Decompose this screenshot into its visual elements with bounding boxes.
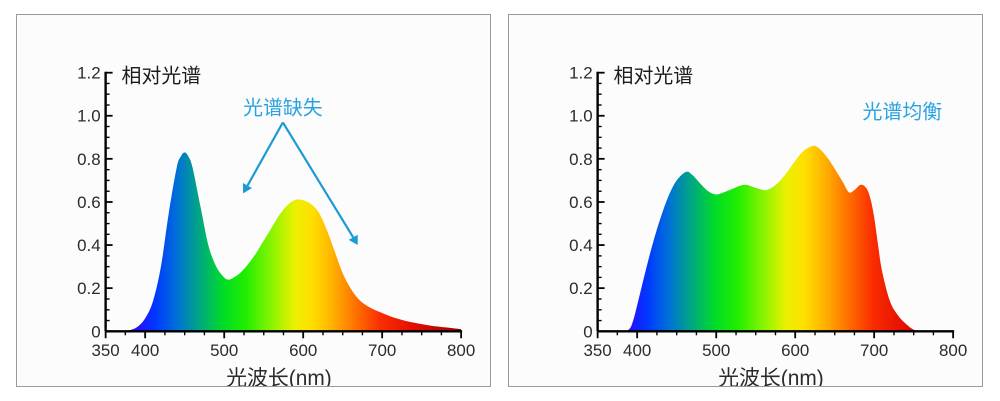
- spectrum-chart-left: 0 0.2 0.4 0.6 0.8 1.0 1.2 350 400 500 60…: [17, 15, 490, 386]
- annotation-label-left: 光谱缺失: [243, 96, 323, 119]
- y-tick-label: 0.6: [569, 193, 593, 212]
- x-tick-label: 700: [368, 341, 396, 360]
- y-tick-label: 0.6: [77, 193, 101, 212]
- spectrum-curve-left: [106, 55, 461, 332]
- x-tick-label: 800: [939, 341, 967, 360]
- x-tick-label: 400: [131, 341, 159, 360]
- x-tick-label: 600: [781, 341, 809, 360]
- x-tick-labels-right: 350 400 500 600 700 800: [584, 341, 968, 360]
- y-tick-label: 0.2: [569, 279, 593, 298]
- x-axis-title-right: 光波长(nm): [718, 367, 824, 386]
- figure-root: 0 0.2 0.4 0.6 0.8 1.0 1.2 350 400 500 60…: [0, 0, 1000, 401]
- annotation-arrow-left-1: [248, 122, 283, 185]
- plot-title-right: 相对光谱: [614, 65, 694, 88]
- y-tick-labels-right: 0 0.2 0.4 0.6 0.8 1.0 1.2: [569, 64, 593, 342]
- y-tick-label: 1.0: [569, 107, 593, 126]
- chart-panel-right: 0 0.2 0.4 0.6 0.8 1.0 1.2 350 400 500 60…: [508, 14, 983, 387]
- spectrum-curve-right: [598, 146, 953, 332]
- y-tick-label: 1.0: [77, 107, 101, 126]
- x-tick-label: 800: [447, 341, 475, 360]
- x-axis-title-left: 光波长(nm): [226, 367, 332, 386]
- y-tick-label: 1.2: [569, 64, 593, 83]
- spectrum-chart-right: 0 0.2 0.4 0.6 0.8 1.0 1.2 350 400 500 60…: [509, 15, 982, 386]
- y-tick-label: 0: [583, 322, 592, 341]
- y-tick-label: 0: [91, 322, 100, 341]
- y-tick-label: 1.2: [77, 64, 101, 83]
- x-tick-label: 350: [92, 341, 120, 360]
- y-tick-label: 0.4: [569, 236, 593, 255]
- chart-panel-left: 0 0.2 0.4 0.6 0.8 1.0 1.2 350 400 500 60…: [16, 14, 491, 387]
- y-tick-label: 0.2: [77, 279, 101, 298]
- y-tick-label: 0.8: [77, 150, 101, 169]
- x-tick-label: 700: [860, 341, 888, 360]
- x-tick-label: 500: [702, 341, 730, 360]
- annotation-group-right: 光谱均衡: [863, 100, 943, 123]
- x-tick-labels-left: 350 400 500 600 700 800: [92, 341, 476, 360]
- spectrum-fill: [598, 146, 953, 332]
- plot-title-left: 相对光谱: [122, 65, 202, 88]
- annotation-label-right: 光谱均衡: [863, 100, 943, 123]
- y-tick-label: 0.4: [77, 236, 101, 255]
- x-tick-label: 600: [289, 341, 317, 360]
- y-tick-labels-left: 0 0.2 0.4 0.6 0.8 1.0 1.2: [77, 64, 101, 342]
- x-tick-label: 500: [210, 341, 238, 360]
- spectrum-fill: [106, 55, 461, 332]
- x-tick-label: 400: [623, 341, 651, 360]
- y-tick-label: 0.8: [569, 150, 593, 169]
- x-tick-label: 350: [584, 341, 612, 360]
